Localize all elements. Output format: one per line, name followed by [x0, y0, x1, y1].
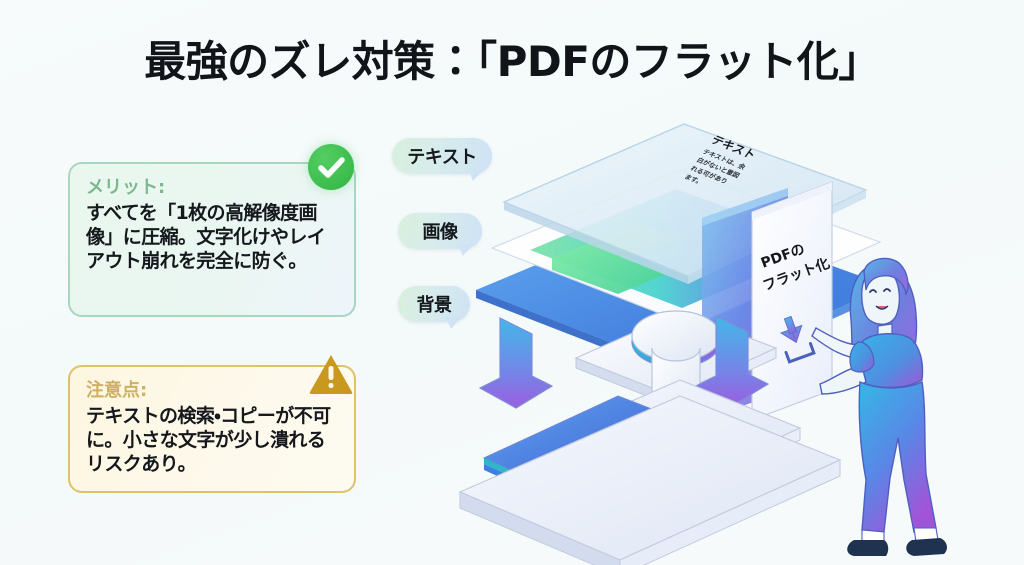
- slide-canvas: 最強のズレ対策：「PDFのフラット化」: [0, 0, 1024, 565]
- layer-callout-background[interactable]: 背景: [398, 286, 470, 322]
- layer-callout-text[interactable]: テキスト: [392, 138, 492, 174]
- layer-callout-text-label: テキスト: [407, 143, 476, 169]
- caution-card-heading: 注意点:: [86, 381, 338, 401]
- page-title: 最強のズレ対策：「PDFのフラット化」: [0, 28, 1024, 89]
- layer-callout-image-label: 画像: [423, 218, 458, 244]
- check-circle-icon: [308, 144, 354, 190]
- layer-callout-image[interactable]: 画像: [398, 213, 482, 249]
- merit-card-heading: メリット:: [86, 178, 338, 198]
- merit-card-body: すべてを「1枚の高解像度画像」に圧縮。文字化けやレイアウト崩れを完全に防ぐ。: [86, 201, 338, 274]
- down-arrow-icon-left: [480, 318, 552, 408]
- layer-callout-background-label: 背景: [417, 291, 452, 317]
- caution-card-body: テキストの検索・コピーが不可に。小さな文字が少し潰れるリスクあり。: [86, 404, 338, 477]
- warning-triangle-icon: [308, 352, 354, 396]
